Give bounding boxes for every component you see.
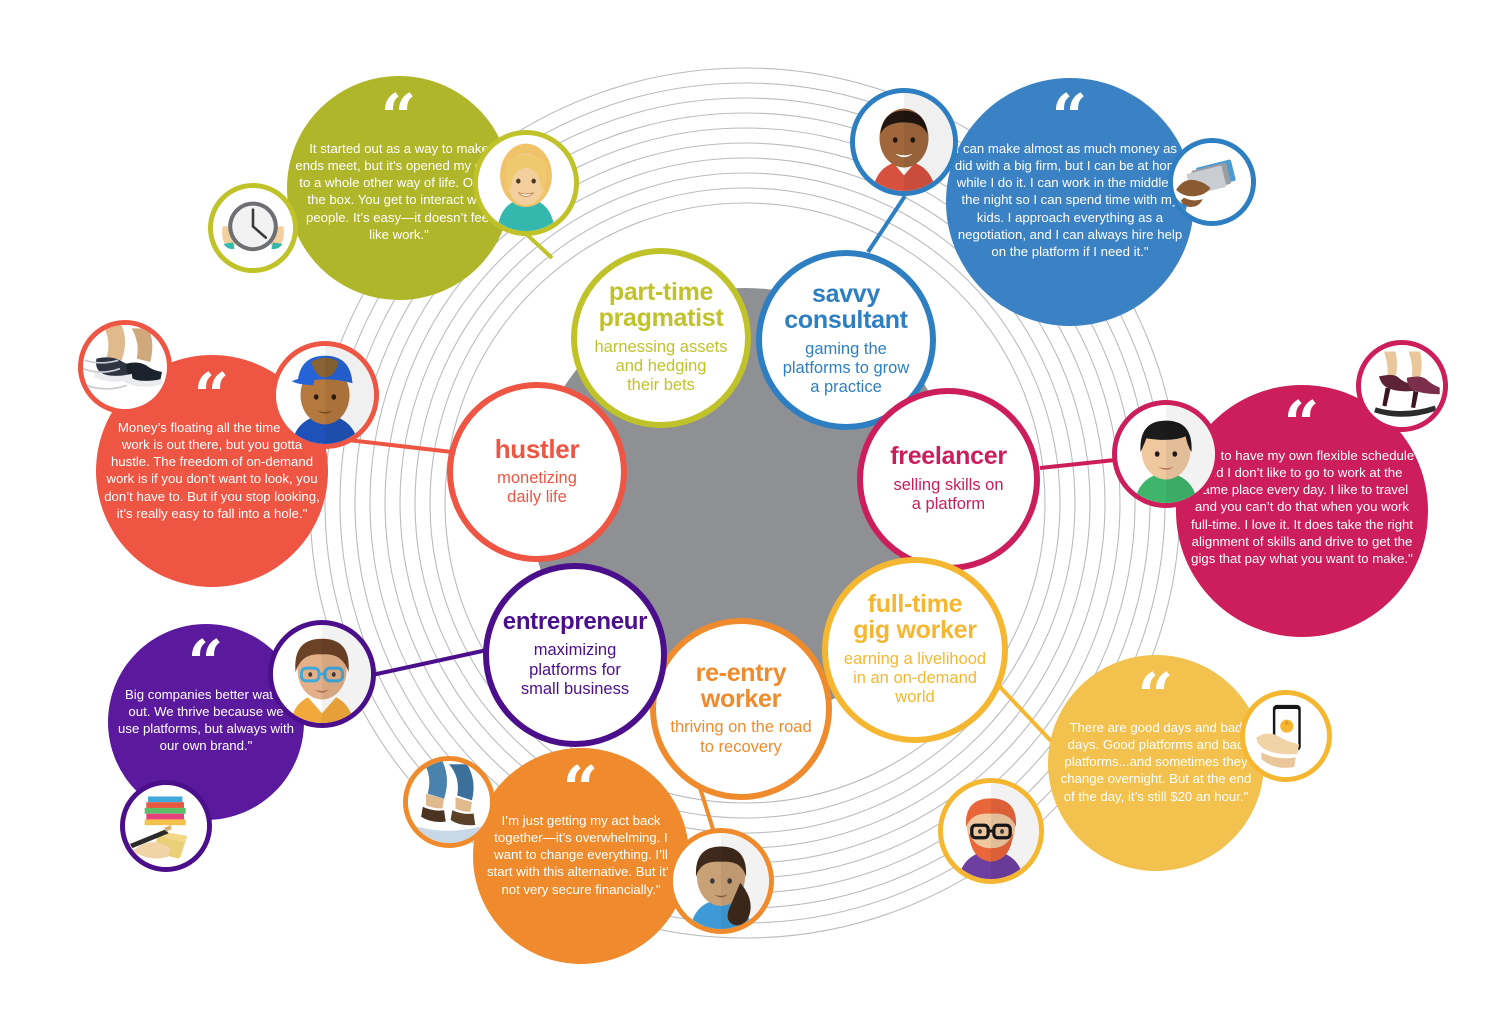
legs-icon — [408, 761, 490, 843]
avatar-woman-brown-ponytail-blue-top[interactable] — [668, 828, 774, 934]
persona-desc: thriving on the road to recovery — [670, 718, 811, 757]
avatar-man-red-beard-glasses[interactable] — [938, 778, 1044, 884]
avatar-art — [1117, 405, 1215, 503]
persona-title: hustler — [495, 436, 580, 463]
shoes-icon — [1361, 345, 1443, 427]
persona-desc: maximizing platforms for small business — [521, 641, 629, 699]
quote-mark-icon: “ — [1138, 677, 1175, 715]
running-shoes-icon — [83, 325, 167, 409]
persona-title: freelancer — [890, 444, 1007, 470]
notes-icon — [125, 785, 207, 867]
quote-text: There are good days and bad days. Good p… — [1048, 719, 1264, 805]
persona-entrepreneur[interactable]: entrepreneur maximizing platforms for sm… — [483, 563, 667, 747]
avatar-art — [943, 783, 1039, 879]
avatar-man-dark-skin-red-shirt[interactable] — [850, 88, 958, 196]
infographic-canvas: part-timepragmatist harnessing assets an… — [0, 0, 1500, 1016]
avatar-woman-glasses-brown-hair[interactable] — [268, 620, 376, 728]
persona-part-time-pragmatist[interactable]: part-timepragmatist harnessing assets an… — [571, 248, 751, 428]
avatar-woman-black-hair-green-top[interactable] — [1112, 400, 1220, 508]
persona-re-entry-worker[interactable]: re-entryworker thriving on the road to r… — [650, 618, 832, 800]
avatar-man-blue-cap-pinstripes[interactable] — [271, 341, 379, 449]
cash-icon — [1173, 143, 1251, 221]
avatar-art — [273, 625, 371, 723]
avatar-art — [855, 93, 953, 191]
persona-desc: earning a livelihood in an on-demand wor… — [844, 650, 986, 708]
icon-hand-holding-smartphone[interactable] — [1240, 690, 1332, 782]
persona-freelancer[interactable]: freelancer selling skills on a platform — [857, 388, 1040, 571]
icon-high-heels-shoes[interactable] — [1356, 340, 1448, 432]
quote-text: I can make almost as much money as I did… — [946, 140, 1194, 260]
persona-title: part-timepragmatist — [599, 280, 724, 332]
avatar-art — [276, 346, 374, 444]
icon-hand-writing-notes[interactable] — [120, 780, 212, 872]
icon-hands-holding-clock[interactable] — [208, 183, 298, 273]
quote-mark-icon: “ — [194, 377, 231, 415]
quote-text: I’m just getting my act back together—it… — [473, 812, 689, 898]
persona-hustler[interactable]: hustler monetizing daily life — [447, 382, 627, 562]
icon-legs-walking-jeans[interactable] — [403, 756, 495, 848]
persona-full-time-gig-worker[interactable]: full-timegig worker earning a livelihood… — [822, 557, 1008, 743]
quote-full-time-gig-worker: “ There are good days and bad days. Good… — [1048, 655, 1264, 871]
icon-hand-holding-cash[interactable] — [1168, 138, 1256, 226]
persona-title: savvyconsultant — [784, 282, 907, 334]
quote-mark-icon: “ — [381, 98, 418, 136]
quote-re-entry-worker: “ I’m just getting my act back together—… — [473, 748, 689, 964]
persona-desc: harnessing assets and hedging their bets — [595, 338, 728, 396]
avatar-woman-blonde-teal[interactable] — [473, 130, 579, 236]
icon-running-shoes-legs[interactable] — [78, 320, 172, 414]
quote-mark-icon: “ — [1284, 405, 1321, 443]
quote-mark-icon: “ — [188, 644, 225, 682]
quote-mark-icon: “ — [563, 770, 600, 808]
persona-desc: monetizing daily life — [497, 469, 577, 508]
clock-icon — [213, 188, 293, 268]
quote-mark-icon: “ — [1052, 98, 1089, 136]
smartphone-icon — [1245, 695, 1327, 777]
persona-title: entrepreneur — [503, 610, 647, 635]
quote-savvy-consultant: “ I can make almost as much money as I d… — [946, 78, 1194, 326]
persona-title: re-entryworker — [696, 661, 787, 713]
persona-desc: selling skills on a platform — [893, 476, 1003, 515]
persona-title: full-timegig worker — [853, 592, 976, 644]
avatar-art — [673, 833, 769, 929]
persona-desc: gaming the platforms to grow a practice — [783, 340, 910, 398]
avatar-art — [478, 135, 574, 231]
